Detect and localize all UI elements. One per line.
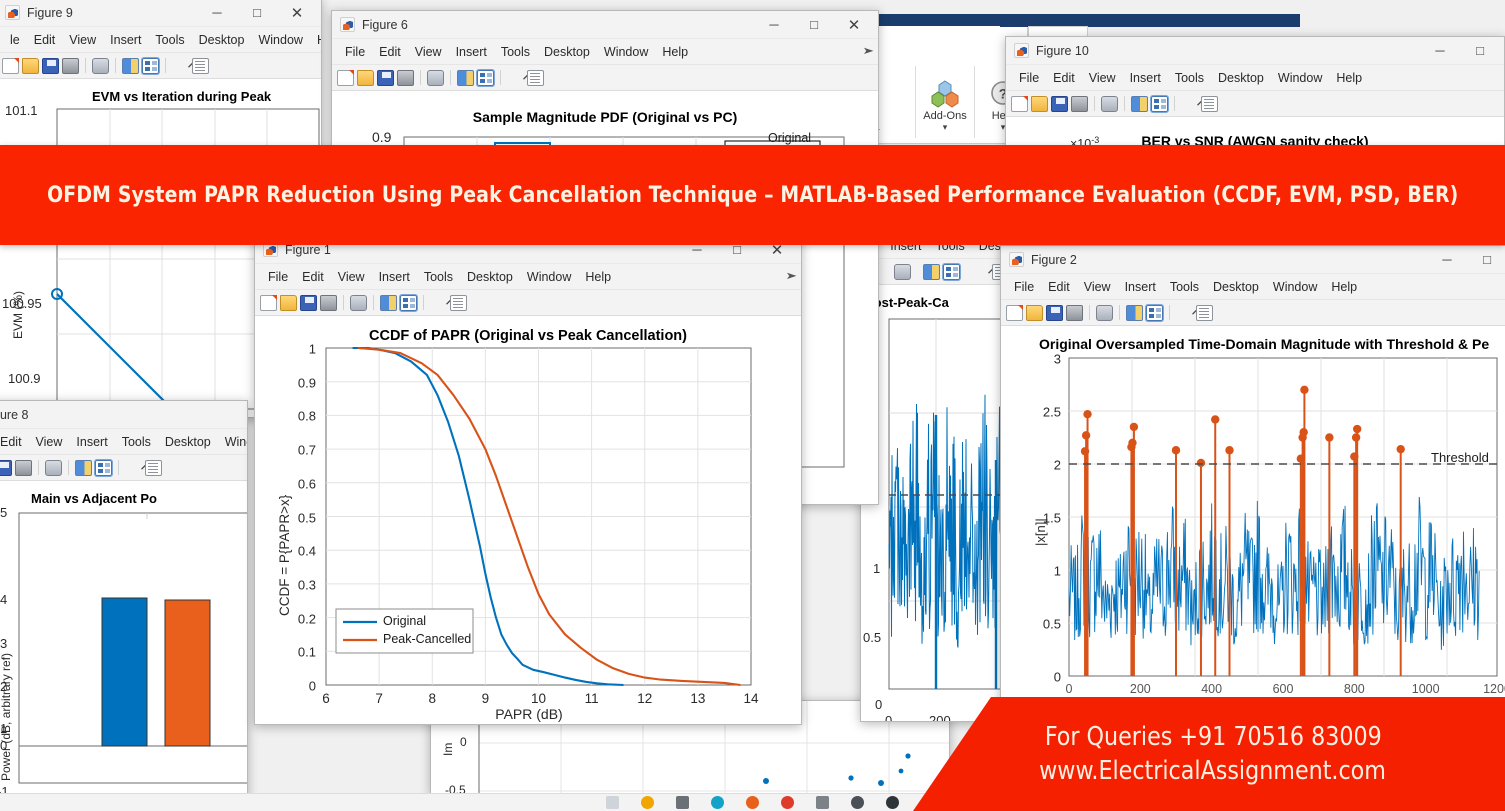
figure1-xlabel: PAPR (dB) — [255, 706, 802, 722]
new-figure-icon[interactable] — [1011, 96, 1028, 112]
legend-icon[interactable] — [477, 70, 494, 86]
figure8-titlebar[interactable]: gure 8 — [0, 401, 247, 429]
menu-item-help[interactable]: Help — [655, 43, 695, 61]
figure9-title: Figure 9 — [27, 6, 73, 20]
new-figure-icon[interactable] — [337, 70, 354, 86]
save-figure-icon[interactable] — [0, 460, 12, 476]
fig2-ytick-2.5: 2.5 — [1043, 405, 1061, 420]
link-plot-icon[interactable] — [350, 295, 367, 311]
fig2-ytick-0.5: 0.5 — [1043, 617, 1061, 632]
figure7-canvas: Post-Peak-Ca 1 0.5 0 0 200 4 — [861, 285, 1009, 721]
maximize-button[interactable]: □ — [1467, 246, 1505, 273]
fig8-ylabel: Power (dB, arbitrary ref) — [0, 653, 13, 781]
figure6-plot-title: Sample Magnitude PDF (Original vs PC) — [332, 109, 878, 125]
figure6-menubar[interactable]: FileEditViewInsertToolsDesktopWindowHelp… — [332, 39, 878, 65]
menu-item-view[interactable]: View — [29, 433, 70, 451]
toolbar-separator — [373, 295, 374, 310]
figure1-canvas: CCDF of PAPR (Original vs Peak Cancellat… — [255, 316, 801, 724]
fig6-ytick-0: 0.9 — [372, 129, 391, 145]
menu-item-tools[interactable]: Tools — [417, 268, 460, 286]
ccdf-ytick-1: 1 — [309, 342, 316, 357]
figure6-window-buttons: ─ □ ✕ — [754, 11, 874, 38]
fig9-ylabel: EVM (%) — [11, 291, 25, 339]
save-figure-icon[interactable] — [1051, 96, 1068, 112]
maximize-button[interactable]: □ — [794, 11, 834, 38]
menu-item-edit[interactable]: Edit — [295, 268, 331, 286]
menu-item-window[interactable]: Window — [251, 31, 309, 49]
figure10-toolbar[interactable] — [1006, 91, 1504, 117]
ccdf-xtick-6: 6 — [322, 691, 330, 706]
legend-icon[interactable] — [142, 58, 159, 74]
menu-item-desktop[interactable]: Desktop — [1211, 69, 1271, 87]
banner-website: www.ElectricalAssignment.com — [1040, 754, 1387, 788]
banner-title: OFDM System PAPR Reduction Using Peak Ca… — [47, 182, 1458, 208]
matlab-logo-icon — [1009, 252, 1024, 267]
link-plot-icon[interactable] — [92, 58, 109, 74]
menu-item-insert[interactable]: Insert — [103, 31, 148, 49]
pointer-icon[interactable] — [430, 295, 447, 311]
save-figure-icon[interactable] — [377, 70, 394, 86]
menu-item-help[interactable]: Help — [1324, 278, 1364, 296]
time-domain-magnitude-plot — [1001, 326, 1505, 710]
print-figure-icon[interactable] — [62, 58, 79, 74]
legend-icon[interactable] — [1151, 96, 1168, 112]
menu-item-help[interactable]: Help — [310, 31, 322, 49]
addons-icon — [930, 78, 960, 108]
open-file-icon[interactable] — [280, 295, 297, 311]
fig7-xtick-0: 0 — [885, 713, 892, 722]
menu-item-insert[interactable]: Insert — [1118, 278, 1163, 296]
fig2-xtick-200: 200 — [1130, 682, 1151, 696]
figure2-title: Figure 2 — [1031, 253, 1077, 267]
menu-item-tools[interactable]: Tools — [494, 43, 537, 61]
toolbar-separator — [450, 70, 451, 85]
fig2-xtick-800: 800 — [1344, 682, 1365, 696]
menubar-overflow-icon[interactable]: ➤ — [862, 46, 874, 57]
colorbar-icon[interactable] — [1126, 305, 1143, 321]
pointer-icon[interactable] — [1176, 305, 1193, 321]
figure10-title: Figure 10 — [1036, 44, 1089, 58]
menu-item-help[interactable]: Help — [1329, 69, 1369, 87]
colorbar-icon[interactable] — [1131, 96, 1148, 112]
figure2-threshold-label: Threshold — [1431, 450, 1489, 465]
pointer-icon[interactable] — [1181, 96, 1198, 112]
menu-item-insert[interactable]: Insert — [372, 268, 417, 286]
fig2-xtick-1200: 1200 — [1483, 682, 1505, 696]
ccdf-xtick-8: 8 — [428, 691, 436, 706]
print-figure-icon[interactable] — [397, 70, 414, 86]
fig2-ytick-3: 3 — [1054, 352, 1061, 367]
menu-item-desktop[interactable]: Desktop — [192, 31, 252, 49]
matlab-logo-icon — [5, 5, 20, 20]
figure8-toolbar[interactable] — [0, 455, 247, 481]
ccdf-ytick-0.2: 0.2 — [298, 611, 316, 626]
figure9-window-buttons: ─ □ ✕ — [197, 0, 317, 26]
open-file-icon[interactable] — [1031, 96, 1048, 112]
ccdf-ytick-0.1: 0.1 — [298, 645, 316, 660]
menubar-overflow-icon[interactable]: ➤ — [785, 271, 797, 282]
taskbar-edge-icon[interactable] — [711, 796, 724, 809]
toolbar-separator — [118, 460, 119, 475]
figure1-menubar[interactable]: FileEditViewInsertToolsDesktopWindowHelp… — [255, 264, 801, 290]
menu-item-window[interactable]: Window — [520, 268, 578, 286]
matlab-logo-icon — [340, 17, 355, 32]
open-file-icon[interactable] — [357, 70, 374, 86]
ccdf-xtick-7: 7 — [375, 691, 383, 706]
close-button[interactable]: ✕ — [834, 11, 874, 38]
ccdf-ytick-0.9: 0.9 — [298, 375, 316, 390]
top-red-banner: OFDM System PAPR Reduction Using Peak Ca… — [0, 145, 1505, 245]
maximize-button[interactable]: □ — [237, 0, 277, 26]
figure2-window-buttons: ─ □ — [1427, 246, 1505, 273]
toolbar-separator — [1174, 96, 1175, 111]
menu-item-tools[interactable]: Tools — [148, 31, 191, 49]
main-vs-adjacent-power-plot — [0, 481, 248, 800]
menu-item-desktop[interactable]: Desktop — [460, 268, 520, 286]
figure9-menubar[interactable]: leEditViewInsertToolsDesktopWindowHelp — [0, 27, 321, 53]
ccdf-ytick-0.8: 0.8 — [298, 409, 316, 424]
menu-item-desktop[interactable]: Desktop — [158, 433, 218, 451]
figure1-plot-title: CCDF of PAPR (Original vs Peak Cancellat… — [255, 328, 801, 344]
figure1-legend-label-1: Peak-Cancelled — [383, 632, 471, 646]
pointer-icon[interactable] — [507, 70, 524, 86]
figure9-titlebar[interactable]: Figure 9 ─ □ ✕ — [0, 0, 321, 27]
menu-item-edit[interactable]: Edit — [0, 433, 29, 451]
pointer-icon[interactable] — [125, 460, 142, 476]
menu-item-edit[interactable]: Edit — [1046, 69, 1082, 87]
link-plot-icon[interactable] — [894, 264, 911, 280]
fig8-ytick-5: 5 — [0, 505, 7, 520]
ccdf-ytick-0.3: 0.3 — [298, 577, 316, 592]
ribbon-separator — [915, 66, 916, 138]
fig2-xtick-400: 400 — [1201, 682, 1222, 696]
figure2-canvas: Original Oversampled Time-Domain Magnitu… — [1001, 326, 1505, 709]
fig2-xtick-600: 600 — [1273, 682, 1294, 696]
property-inspector-icon[interactable] — [1201, 96, 1218, 112]
colorbar-icon[interactable] — [923, 264, 940, 280]
ccdf-xtick-10: 10 — [531, 691, 546, 706]
figure8-canvas: Main vs Adjacent Po 5 4 3 2 1 0 -1 Power… — [0, 481, 247, 799]
menu-item-tools[interactable]: Tools — [115, 433, 158, 451]
new-figure-icon[interactable] — [260, 295, 277, 311]
link-plot-icon[interactable] — [45, 460, 62, 476]
fig2-xtick-0: 0 — [1066, 682, 1073, 696]
addons-button[interactable]: Add-Ons ▾ — [917, 78, 973, 132]
taskbar-explorer-icon[interactable] — [641, 796, 654, 809]
figure6-toolbar[interactable] — [332, 65, 878, 91]
fig2-xtick-1000: 1000 — [1412, 682, 1440, 696]
figure9-toolbar[interactable] — [0, 53, 321, 79]
save-figure-icon[interactable] — [42, 58, 59, 74]
menu-item-tools[interactable]: Tools — [1168, 69, 1211, 87]
colorbar-icon[interactable] — [122, 58, 139, 74]
ccdf-ytick-0.5: 0.5 — [298, 510, 316, 525]
menu-item-view[interactable]: View — [331, 268, 372, 286]
addons-label: Add-Ons — [917, 110, 973, 122]
menu-item-file[interactable]: File — [261, 268, 295, 286]
figure2-ylabel: |x[n]| — [1033, 518, 1048, 546]
menu-item-le[interactable]: le — [3, 31, 27, 49]
taskbar-terminal-icon[interactable] — [676, 796, 689, 809]
ccdf-ytick-0.7: 0.7 — [298, 443, 316, 458]
taskbar-matlab-icon[interactable] — [746, 796, 759, 809]
figure7-plot-title: Post-Peak-Ca — [865, 295, 1010, 310]
scale-exponent: -3 — [1091, 135, 1099, 145]
menu-item-view[interactable]: View — [1077, 278, 1118, 296]
figure7-toolbar[interactable] — [861, 259, 1009, 285]
menu-item-window[interactable]: Window — [1271, 69, 1329, 87]
figure2-plot-title: Original Oversampled Time-Domain Magnitu… — [1039, 336, 1505, 352]
fig2-ytick-0: 0 — [1054, 670, 1061, 685]
post-peak-cancellation-plot — [861, 285, 1010, 722]
fig7-xtick-200: 200 — [929, 713, 951, 722]
print-figure-icon[interactable] — [1071, 96, 1088, 112]
fig9-ytick-0: 101.1 — [5, 103, 38, 118]
figure-window-post-peak[interactable]: vInsertToolsDes Post-Peak-Ca 1 0.5 0 0 2… — [860, 232, 1010, 722]
menu-item-view[interactable]: View — [1082, 69, 1123, 87]
figure10-menubar[interactable]: FileEditViewInsertToolsDesktopWindowHelp — [1006, 65, 1504, 91]
taskbar-start-icon[interactable] — [606, 796, 619, 809]
fig8-ytick-3: 3 — [0, 636, 7, 651]
figure-window-1[interactable]: Figure 1 ─ □ ✕ FileEditViewInsertToolsDe… — [254, 235, 802, 725]
property-inspector-icon[interactable] — [450, 295, 467, 311]
ccdf-xtick-14: 14 — [743, 691, 758, 706]
banner-phone: For Queries +91 70516 83009 — [1045, 720, 1382, 754]
figure10-window-buttons: ─ □ — [1420, 37, 1500, 64]
ccdf-xtick-11: 11 — [585, 691, 599, 706]
figure-window-8[interactable]: gure 8 EditViewInsertToolsDesktopWindow … — [0, 400, 248, 800]
taskbar-chat-icon[interactable] — [851, 796, 864, 809]
menu-item-file[interactable]: File — [1012, 69, 1046, 87]
figure1-ylabel: CCDF = P{PAPR>x} — [277, 495, 292, 616]
ccdf-plot — [255, 316, 802, 725]
minimize-button[interactable]: ─ — [754, 11, 794, 38]
legend-icon[interactable] — [95, 460, 112, 476]
menu-item-tools[interactable]: Tools — [1163, 278, 1206, 296]
taskbar-store-icon[interactable] — [816, 796, 829, 809]
maximize-button[interactable]: □ — [1460, 37, 1500, 64]
desktop-screen: s Add-Ons ▾ ? Help ▾ IT — [0, 0, 1505, 811]
menu-item-file[interactable]: File — [338, 43, 372, 61]
new-figure-icon[interactable] — [1006, 305, 1023, 321]
print-figure-icon[interactable] — [320, 295, 337, 311]
figure1-legend-label-0: Original — [383, 614, 426, 628]
toolbar-separator — [115, 58, 116, 73]
fig7-ytick-0: 0 — [875, 697, 882, 712]
legend-icon[interactable] — [943, 264, 960, 280]
figure8-plot-title: Main vs Adjacent Po — [31, 491, 248, 506]
menu-item-insert[interactable]: Insert — [69, 433, 114, 451]
taskbar-app-icon[interactable] — [781, 796, 794, 809]
const-ylabel: Im — [441, 743, 455, 756]
menu-item-view[interactable]: View — [408, 43, 449, 61]
toolbar-separator — [68, 460, 69, 475]
property-inspector-icon[interactable] — [192, 58, 209, 74]
menu-item-insert[interactable]: Insert — [1123, 69, 1168, 87]
print-figure-icon[interactable] — [1066, 305, 1083, 321]
toolbar-separator — [165, 58, 166, 73]
toolbar-separator — [1089, 305, 1090, 320]
menu-item-edit[interactable]: Edit — [27, 31, 63, 49]
toolbar-separator — [1119, 305, 1120, 320]
pointer-icon[interactable] — [972, 264, 989, 280]
toolbar-separator — [1124, 96, 1125, 111]
menu-item-edit[interactable]: Edit — [1041, 278, 1077, 296]
print-figure-icon[interactable] — [15, 460, 32, 476]
figure2-menubar[interactable]: FileEditViewInsertToolsDesktopWindowHelp — [1001, 274, 1505, 300]
toolbar-separator — [423, 295, 424, 310]
toolbar-separator — [343, 295, 344, 310]
property-inspector-icon[interactable] — [527, 70, 544, 86]
figure2-titlebar[interactable]: Figure 2 ─ □ — [1001, 246, 1505, 274]
menu-item-view[interactable]: View — [62, 31, 103, 49]
taskbar-user-icon[interactable] — [886, 796, 899, 809]
toolbar-separator — [1169, 305, 1170, 320]
legend-icon[interactable] — [400, 295, 417, 311]
open-file-icon[interactable] — [22, 58, 39, 74]
figure8-menubar[interactable]: EditViewInsertToolsDesktopWindow — [0, 429, 247, 455]
fig9-ytick-3: 100.9 — [8, 371, 41, 386]
menu-item-help[interactable]: Help — [578, 268, 618, 286]
toolbar-separator — [85, 58, 86, 73]
link-plot-icon[interactable] — [427, 70, 444, 86]
fig7-ytick-05: 0.5 — [863, 630, 881, 645]
figure6-title: Figure 6 — [362, 18, 408, 32]
pointer-icon[interactable] — [172, 58, 189, 74]
ccdf-ytick-0: 0 — [309, 679, 316, 694]
menu-item-edit[interactable]: Edit — [372, 43, 408, 61]
legend-icon[interactable] — [1146, 305, 1163, 321]
save-figure-icon[interactable] — [1046, 305, 1063, 321]
figure10-titlebar[interactable]: Figure 10 ─ □ — [1006, 37, 1504, 65]
menu-item-file[interactable]: File — [1007, 278, 1041, 296]
toolbar-separator — [38, 460, 39, 475]
ccdf-ytick-0.4: 0.4 — [298, 544, 316, 559]
new-figure-icon[interactable] — [2, 58, 19, 74]
menu-item-desktop[interactable]: Desktop — [537, 43, 597, 61]
link-plot-icon[interactable] — [1101, 96, 1118, 112]
colorbar-icon[interactable] — [380, 295, 397, 311]
minimize-button[interactable]: ─ — [197, 0, 237, 26]
figure8-title: gure 8 — [0, 408, 28, 422]
minimize-button[interactable]: ─ — [1427, 246, 1467, 273]
close-button[interactable]: ✕ — [277, 0, 317, 26]
open-file-icon[interactable] — [1026, 305, 1043, 321]
fig8-ytick-4: 4 — [0, 592, 7, 607]
figure6-titlebar[interactable]: Figure 6 ─ □ ✕ — [332, 11, 878, 39]
figure-window-2[interactable]: Figure 2 ─ □ FileEditViewInsertToolsDesk… — [1000, 245, 1505, 710]
fig2-ytick-1: 1 — [1054, 564, 1061, 579]
menu-item-insert[interactable]: Insert — [449, 43, 494, 61]
toolbar-separator — [500, 70, 501, 85]
toolbar-separator — [1094, 96, 1095, 111]
figure9-plot-title: EVM vs Iteration during Peak — [92, 89, 322, 104]
addons-caret-icon[interactable]: ▾ — [917, 122, 973, 132]
property-inspector-icon[interactable] — [145, 460, 162, 476]
ccdf-xtick-9: 9 — [482, 691, 490, 706]
minimize-button[interactable]: ─ — [1420, 37, 1460, 64]
link-plot-icon[interactable] — [1096, 305, 1113, 321]
menu-item-desktop[interactable]: Desktop — [1206, 278, 1266, 296]
figure1-toolbar[interactable] — [255, 290, 801, 316]
save-figure-icon[interactable] — [300, 295, 317, 311]
ccdf-ytick-0.6: 0.6 — [298, 476, 316, 491]
menu-item-window[interactable]: Window — [597, 43, 655, 61]
bottom-red-banner: For Queries +91 70516 83009 www.Electric… — [913, 697, 1505, 811]
figure6-legend-original-label: Original — [768, 131, 811, 145]
toolbar-separator — [420, 70, 421, 85]
matlab-logo-icon — [1014, 43, 1029, 58]
menu-item-window[interactable]: Window — [1266, 278, 1324, 296]
colorbar-icon[interactable] — [75, 460, 92, 476]
const-ytick-0: 0 — [460, 735, 467, 749]
ccdf-xtick-13: 13 — [690, 691, 705, 706]
fig2-ytick-2: 2 — [1054, 458, 1061, 473]
ccdf-xtick-12: 12 — [637, 691, 652, 706]
property-inspector-icon[interactable] — [1196, 305, 1213, 321]
fig7-ytick-1: 1 — [873, 561, 880, 576]
matlab-ribbon: s Add-Ons ▾ ? Help ▾ IT — [868, 26, 1028, 144]
figure2-toolbar[interactable] — [1001, 300, 1505, 326]
menu-item-window[interactable]: Window — [218, 433, 248, 451]
colorbar-icon[interactable] — [457, 70, 474, 86]
